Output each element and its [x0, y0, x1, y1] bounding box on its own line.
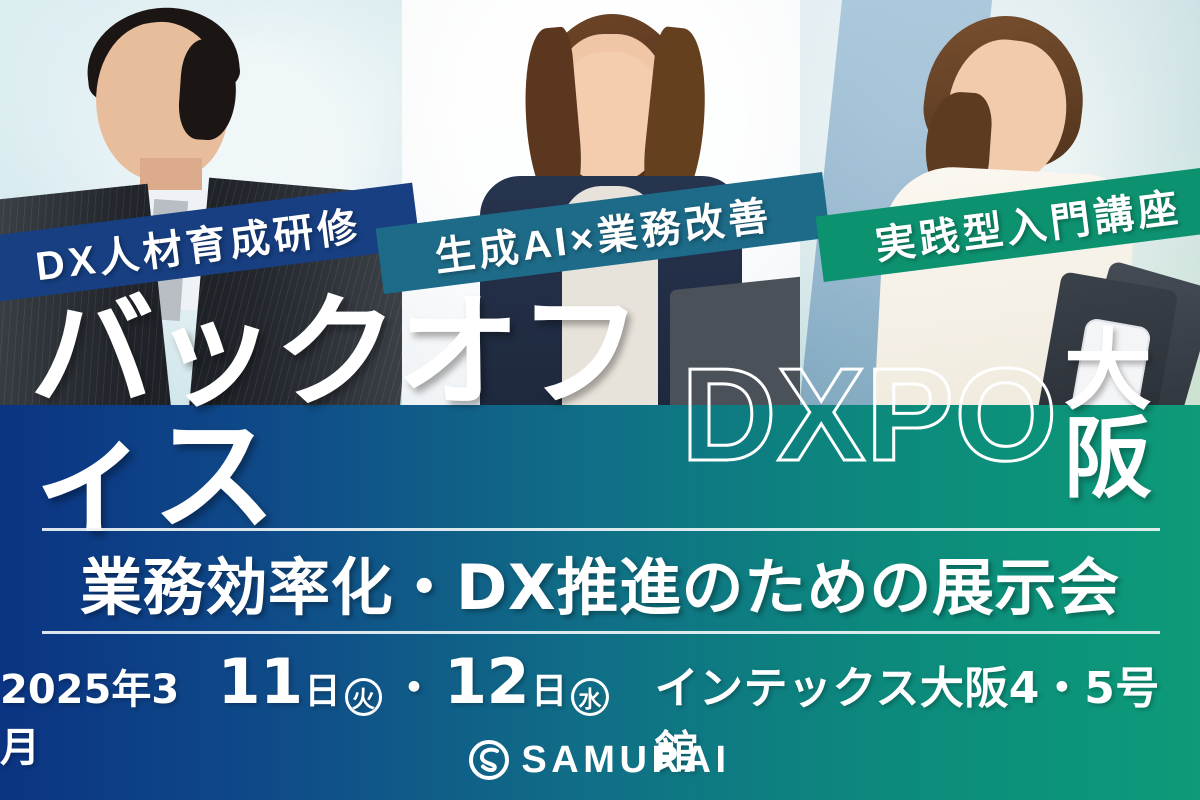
samurai-swirl-icon — [469, 740, 509, 780]
title-logotype: DXPO — [681, 349, 1058, 481]
date-day-1-weekday: 火 — [345, 678, 382, 716]
title-city: 大阪 — [1064, 327, 1200, 503]
date-day-2-weekday: 水 — [571, 678, 608, 716]
title-kana: バックオフィス — [30, 291, 689, 539]
divider-bottom — [42, 631, 1160, 634]
samurai-logo: SAMURAI — [0, 736, 1200, 784]
event-banner: DX人材育成研修 生成AI×業務改善 実践型入門講座 バックオフィス DXPO … — [0, 0, 1200, 800]
event-title: バックオフィス DXPO 大阪 — [0, 330, 1200, 500]
date-separator: ・ — [386, 652, 442, 716]
divider-top — [42, 528, 1160, 531]
date-day-1: 11 — [216, 645, 305, 718]
date-day-2: 12 — [442, 645, 531, 718]
event-info: 2025年3月 11 日 火 ・ 12 日 水 インテックス大阪4・5号館 — [0, 645, 1200, 725]
samurai-logo-text: SAMURAI — [521, 739, 730, 782]
date-day-1-unit: 日 — [305, 662, 341, 714]
event-subtitle: 業務効率化・DX推進のための展示会 — [0, 540, 1200, 624]
date-day-2-unit: 日 — [531, 662, 567, 714]
